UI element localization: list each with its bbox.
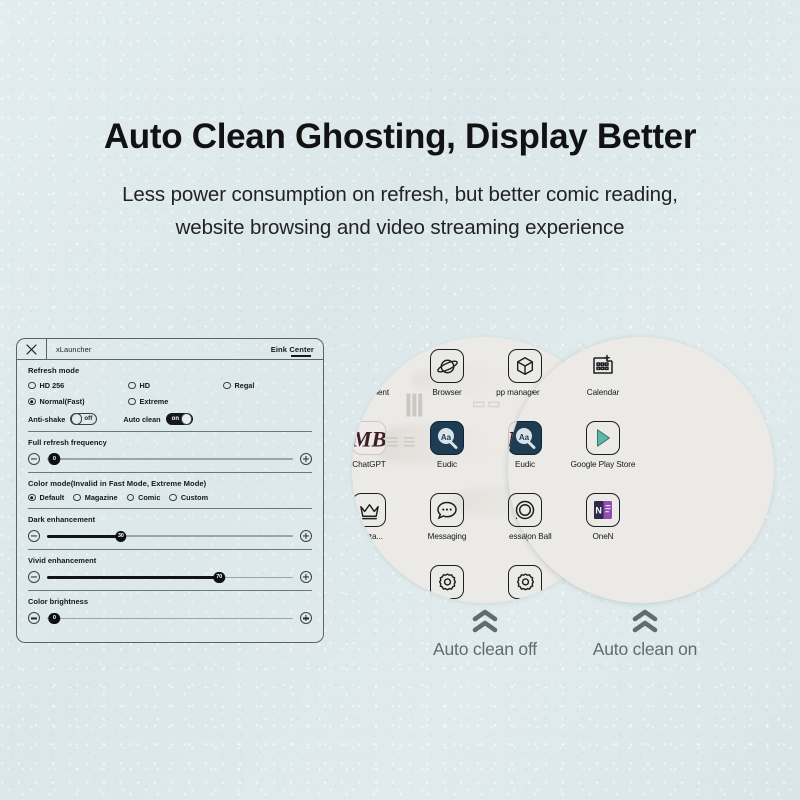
eudic-icon: Aa <box>430 421 464 455</box>
chatgpt-mb-icon: MB <box>352 421 386 455</box>
app-item[interactable]: Aa Eudic <box>408 417 486 489</box>
app-label: Eudic <box>515 460 535 469</box>
browser-planet-icon <box>508 349 542 383</box>
radio-default[interactable]: Default <box>28 493 64 502</box>
svg-text:Aa: Aa <box>441 433 452 442</box>
app-label: Calendar <box>587 388 619 397</box>
google-play-icon <box>586 421 620 455</box>
auto-clean-label: Auto clean <box>123 415 160 424</box>
divider <box>28 472 312 473</box>
app-label: Messaging <box>428 532 467 541</box>
app-label: Navigation Ball <box>508 532 552 541</box>
slider-track-fill <box>47 576 219 579</box>
close-icon <box>25 343 38 356</box>
anti-shake-state: off <box>84 416 92 422</box>
radio-dot-icon <box>128 382 136 390</box>
radio-regal-label: Regal <box>235 381 255 390</box>
slider-row: 30 <box>28 528 312 544</box>
divider <box>28 590 312 591</box>
eudic-icon: Aa <box>508 421 542 455</box>
app-item[interactable] <box>352 561 408 603</box>
radio-dot-icon <box>169 494 177 502</box>
radio-regal[interactable]: Regal <box>223 381 254 390</box>
svg-text:N: N <box>595 506 602 516</box>
slider-track-fill <box>47 535 121 538</box>
settings-gear-icon <box>508 565 542 599</box>
app-label: Browser <box>432 388 461 397</box>
slider-color-brightness: Color brightness 0 <box>28 597 312 626</box>
plus-icon[interactable] <box>300 453 312 465</box>
app-item[interactable]: Navigation Ball <box>508 489 564 561</box>
app-label: Google Play Store <box>571 460 636 469</box>
toggle-knob-icon <box>71 413 83 425</box>
slider-full-refresh-frequency: Full refresh frequency 0 <box>28 438 312 467</box>
radio-dot-icon <box>73 494 81 502</box>
app-item[interactable]: omiza... <box>352 489 408 561</box>
radio-dot-icon <box>128 398 136 406</box>
anti-shake-label: Anti-shake <box>28 415 65 424</box>
browser-planet-icon <box>430 349 464 383</box>
app-item[interactable] <box>508 561 564 603</box>
slider-thumb[interactable]: 0 <box>49 453 61 465</box>
app-grid-auto-clean-on: ent Browser <box>508 345 642 603</box>
page-title: Auto Clean Ghosting, Display Better <box>0 118 800 157</box>
auto-clean-state: on <box>172 416 180 422</box>
messaging-bubble-icon <box>430 493 464 527</box>
screenshot-circle-auto-clean-on: ent Browser <box>508 337 774 603</box>
radio-hd256[interactable]: HD 256 <box>28 381 128 390</box>
app-item[interactable]: N OneN <box>564 489 642 561</box>
caption-auto-clean-on: Auto clean on <box>555 608 735 660</box>
slider-row: 0 <box>28 610 312 626</box>
radio-extreme[interactable]: Extreme <box>128 397 168 406</box>
chevron-up-double-icon <box>630 608 660 634</box>
toggle-knob-icon <box>181 413 193 425</box>
app-item[interactable]: Browser <box>408 345 486 417</box>
slider-thumb[interactable]: 70 <box>213 572 225 584</box>
color-mode-row: Default Magazine Comic Custom <box>28 493 312 502</box>
radio-dot-icon <box>223 382 231 390</box>
divider <box>28 508 312 509</box>
slider-label: Vivid enhancement <box>28 556 312 565</box>
panel-body: Refresh mode HD 256 HD Regal Normal(Fast… <box>17 360 323 626</box>
radio-magazine[interactable]: Magazine <box>73 493 117 502</box>
slider-track-bg <box>47 458 293 460</box>
app-item[interactable] <box>408 561 486 603</box>
slider-thumb[interactable]: 0 <box>49 613 61 625</box>
radio-hd-label: HD <box>140 381 151 390</box>
slider-row: 70 <box>28 569 312 585</box>
divider <box>28 431 312 432</box>
auto-clean-toggle[interactable]: on <box>166 413 193 425</box>
toggle-row: Anti-shake off Auto clean on <box>28 413 312 425</box>
panel-titlebar: xLauncher Eink Center <box>17 339 323 360</box>
caption-text: Auto clean off <box>395 639 575 660</box>
refresh-mode-row-1: HD 256 HD Regal <box>28 381 312 390</box>
anti-shake-toggle[interactable]: off <box>70 413 97 425</box>
app-label: Browser <box>510 388 539 397</box>
refresh-mode-row-2: Normal(Fast) Extreme <box>28 397 312 406</box>
divider <box>28 549 312 550</box>
refresh-mode-label: Refresh mode <box>28 366 312 375</box>
app-item[interactable]: anagement <box>352 345 408 417</box>
app-label: Eudic <box>437 460 457 469</box>
slider-label: Color brightness <box>28 597 312 606</box>
caption-auto-clean-off: Auto clean off <box>395 608 575 660</box>
slider-label: Dark enhancement <box>28 515 312 524</box>
radio-dot-selected-icon <box>28 494 36 502</box>
app-label: omiza... <box>355 532 383 541</box>
page-subtitle-line-1: Less power consumption on refresh, but b… <box>0 178 800 211</box>
onenote-icon: N <box>586 493 620 527</box>
app-label: anagement <box>352 388 389 397</box>
radio-dot-selected-icon <box>28 398 36 406</box>
panel-app-title: xLauncher <box>56 345 91 354</box>
close-button[interactable] <box>17 339 47 359</box>
slider-vivid-enhancement: Vivid enhancement 70 <box>28 556 312 585</box>
plus-icon[interactable] <box>300 530 312 542</box>
app-item[interactable]: MB ChatGPT <box>352 417 408 489</box>
eink-center-settings-panel: xLauncher Eink Center Refresh mode HD 25… <box>16 338 324 643</box>
radio-dot-icon <box>28 382 36 390</box>
minus-icon[interactable] <box>28 612 40 624</box>
app-item[interactable]: Aa Eudic <box>508 417 564 489</box>
app-label: ChatGPT <box>352 460 385 469</box>
slider-track[interactable]: 0 <box>47 453 293 465</box>
calendar-icon <box>586 349 620 383</box>
page-subtitle: Less power consumption on refresh, but b… <box>0 178 800 244</box>
color-mode-label: Color mode(Invalid in Fast Mode, Extreme… <box>28 479 312 488</box>
app-item[interactable]: Google Play Store <box>564 417 642 489</box>
eink-center-tab[interactable]: Eink Center <box>271 345 314 354</box>
radio-custom-label: Custom <box>181 493 208 502</box>
slider-dark-enhancement: Dark enhancement 30 <box>28 515 312 544</box>
radio-custom[interactable]: Custom <box>169 493 208 502</box>
radio-comic[interactable]: Comic <box>127 493 161 502</box>
plus-icon[interactable] <box>300 612 312 624</box>
slider-track[interactable]: 0 <box>47 612 293 624</box>
radio-default-label: Default <box>40 493 65 502</box>
radio-normal-fast[interactable]: Normal(Fast) <box>28 397 128 406</box>
navigation-ball-icon <box>508 493 542 527</box>
radio-hd256-label: HD 256 <box>40 381 65 390</box>
page-subtitle-line-2: website browsing and video streaming exp… <box>0 211 800 244</box>
svg-text:Aa: Aa <box>519 433 530 442</box>
app-item[interactable]: Calendar <box>564 345 642 417</box>
app-label: OneN <box>593 532 614 541</box>
app-management-icon <box>352 349 386 383</box>
circle-inner: ent Browser <box>508 337 774 603</box>
radio-dot-icon <box>127 494 135 502</box>
caption-text: Auto clean on <box>555 639 735 660</box>
minus-icon[interactable] <box>28 530 40 542</box>
svg-text:MB: MB <box>353 426 385 451</box>
app-item[interactable]: Messaging <box>408 489 486 561</box>
app-item[interactable]: Browser <box>508 345 564 417</box>
radio-magazine-label: Magazine <box>85 493 118 502</box>
settings-gear-icon <box>430 565 464 599</box>
slider-label: Full refresh frequency <box>28 438 312 447</box>
app-item[interactable] <box>564 561 642 603</box>
minus-icon[interactable] <box>28 571 40 583</box>
radio-normal-fast-label: Normal(Fast) <box>40 397 85 406</box>
slider-track[interactable]: 70 <box>47 571 293 583</box>
minus-icon[interactable] <box>28 453 40 465</box>
slider-thumb[interactable]: 30 <box>115 531 127 543</box>
hero-text-block: Auto Clean Ghosting, Display Better Less… <box>0 118 800 244</box>
crown-icon <box>352 493 386 527</box>
slider-track[interactable]: 30 <box>47 530 293 542</box>
radio-comic-label: Comic <box>138 493 160 502</box>
slider-track-bg <box>47 618 293 620</box>
radio-hd[interactable]: HD <box>128 381 223 390</box>
plus-icon[interactable] <box>300 571 312 583</box>
chevron-up-double-icon <box>470 608 500 634</box>
radio-extreme-label: Extreme <box>140 397 169 406</box>
slider-row: 0 <box>28 451 312 467</box>
